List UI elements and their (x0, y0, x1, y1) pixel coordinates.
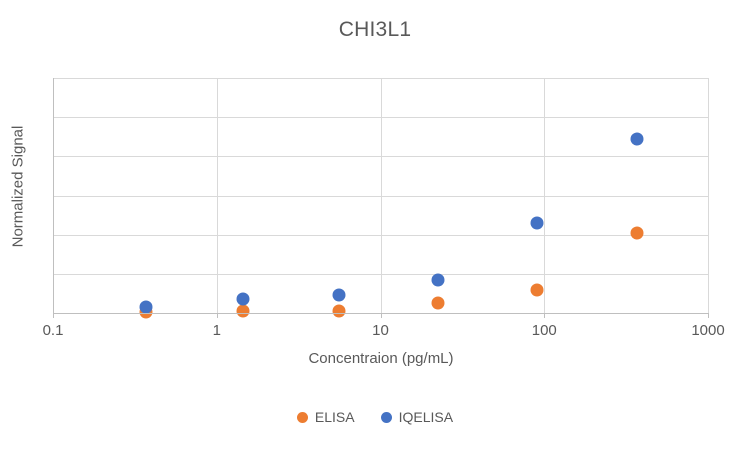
x-axis-title: Concentraion (pg/mL) (53, 350, 709, 367)
x-axis-tick-mark (53, 313, 54, 318)
chart-title: CHI3L1 (0, 18, 750, 42)
legend-label: IQELISA (399, 409, 453, 425)
gridline-vertical (708, 78, 709, 313)
x-axis-tick-mark (381, 313, 382, 318)
x-axis-tick-mark (217, 313, 218, 318)
x-axis-tick-label: 100 (532, 322, 557, 339)
gridline-vertical (217, 78, 218, 313)
legend-label: ELISA (315, 409, 355, 425)
data-point-iqelisa (432, 273, 445, 286)
data-point-iqelisa (333, 289, 346, 302)
y-axis-line (53, 78, 54, 314)
legend-item-elisa[interactable]: ELISA (297, 409, 355, 425)
gridline-vertical (544, 78, 545, 313)
y-axis-title: Normalized Signal (10, 107, 27, 267)
chart-legend: ELISAIQELISA (0, 409, 750, 425)
gridline-vertical (381, 78, 382, 313)
data-point-elisa (333, 305, 346, 318)
x-axis-tick-label: 1000 (691, 322, 724, 339)
chart-container: CHI3L1 0.11101001000 Concentraion (pg/mL… (0, 0, 750, 450)
data-point-iqelisa (631, 132, 644, 145)
data-point-iqelisa (140, 301, 153, 314)
data-point-elisa (631, 226, 644, 239)
data-point-elisa (432, 297, 445, 310)
data-point-iqelisa (237, 293, 250, 306)
data-point-elisa (237, 305, 250, 318)
x-axis-tick-label: 1 (213, 322, 221, 339)
data-point-iqelisa (530, 216, 543, 229)
legend-item-iqelisa[interactable]: IQELISA (381, 409, 453, 425)
data-point-elisa (530, 283, 543, 296)
legend-marker-icon (381, 412, 392, 423)
legend-marker-icon (297, 412, 308, 423)
x-axis-tick-label: 0.1 (43, 322, 64, 339)
x-axis-tick-mark (544, 313, 545, 318)
x-axis-tick-mark (708, 313, 709, 318)
x-axis-tick-label: 10 (372, 322, 389, 339)
plot-area (53, 78, 708, 313)
